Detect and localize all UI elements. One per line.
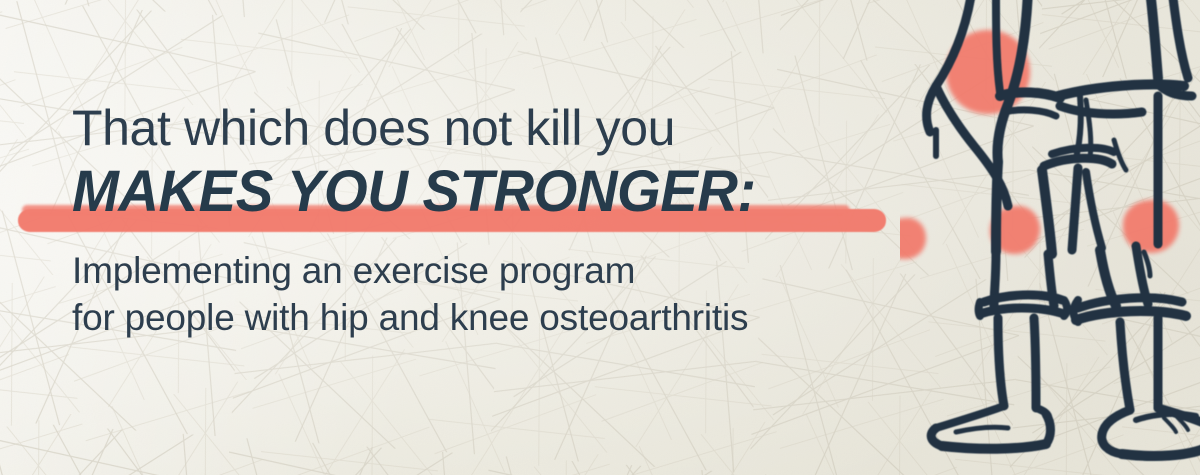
subtitle-line-2: for people with hip and knee osteoarthri… (72, 294, 952, 341)
subtitle-line-1: Implementing an exercise program (72, 247, 952, 294)
page-title: MAKES YOU STRONGER: (72, 163, 926, 221)
tagline-line: That which does not kill you (72, 100, 952, 157)
headline-text-block: That which does not kill you MAKES YOU S… (72, 100, 952, 342)
subtitle: Implementing an exercise program for peo… (72, 247, 952, 342)
banner: That which does not kill you MAKES YOU S… (0, 0, 1200, 475)
right-knee-pain-spot (1123, 200, 1179, 253)
headline-group: MAKES YOU STRONGER: (72, 163, 952, 225)
